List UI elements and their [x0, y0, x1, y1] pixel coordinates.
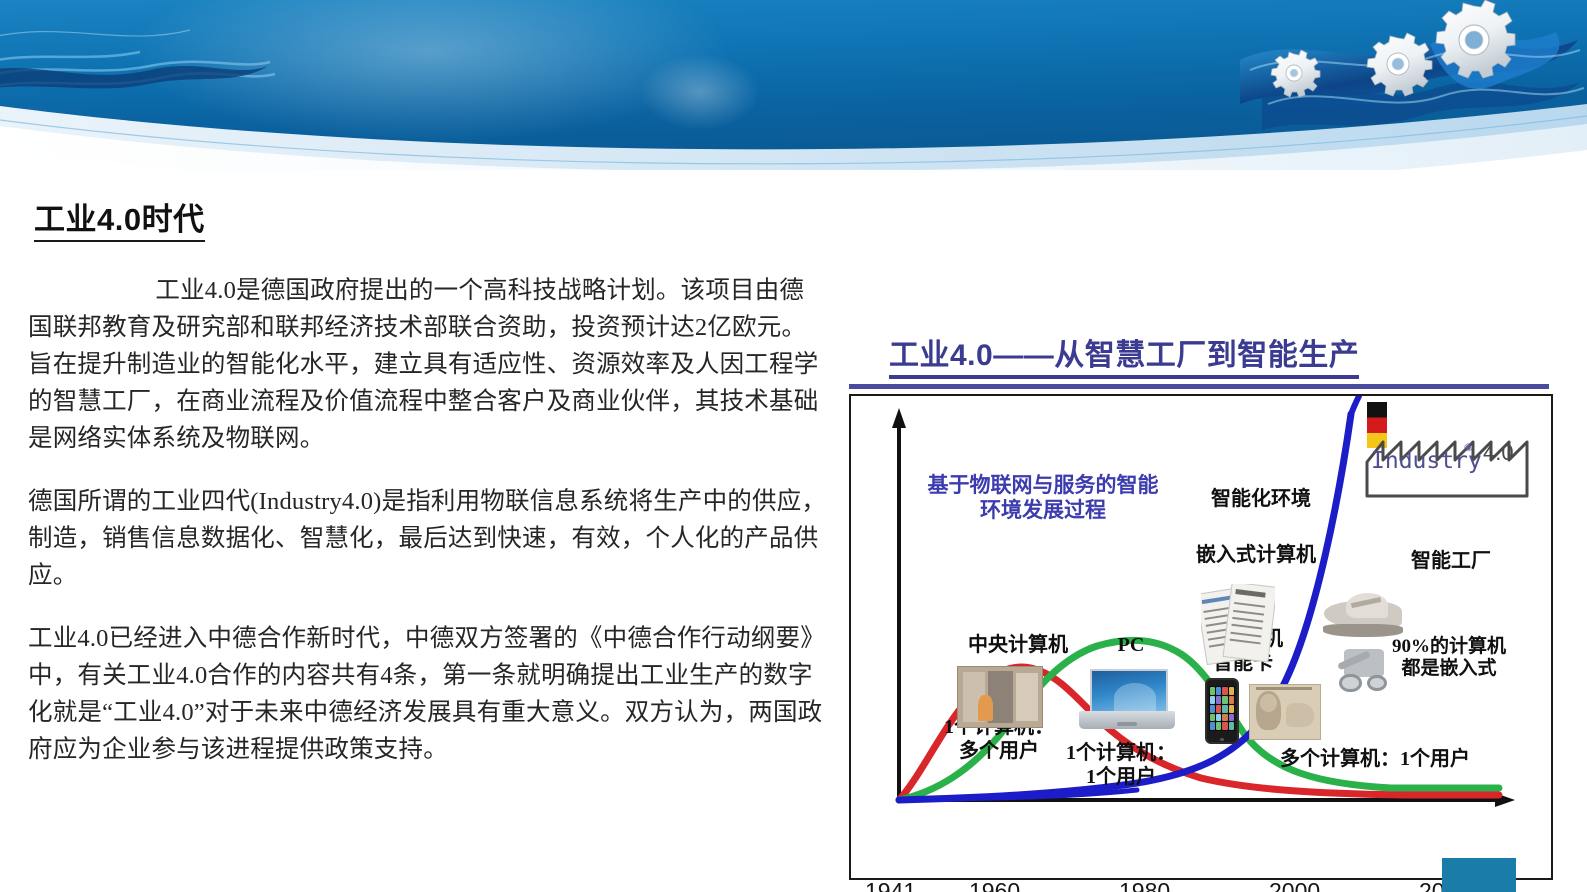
x-tick-1960: 1960 — [969, 878, 1020, 892]
laptop-photo — [1079, 668, 1175, 736]
smartphone-photo — [1205, 678, 1239, 744]
x-tick-2000: 2000 — [1269, 878, 1320, 892]
industry-logo-version: 4.0 — [1483, 440, 1514, 466]
id-card-photo — [1249, 684, 1321, 740]
one-computer-one-user-label: 1个计算机：1个用户 — [1051, 742, 1191, 789]
smart-environment-label: 智能化环境 — [1191, 488, 1331, 512]
documents-photo — [1201, 584, 1275, 666]
body-copy: 工业4.0是德国政府提出的一个高科技战略计划。该项目由德国联邦教育及研究部和联邦… — [28, 272, 828, 768]
chart-title: 工业4.0——从智慧工厂到智能生产 — [889, 330, 1359, 379]
x-tick-1980: 1980 — [1119, 878, 1170, 892]
robot-photo — [1331, 640, 1401, 698]
pc-label: PC — [1101, 634, 1161, 658]
many-computers-one-user-label: 多个计算机：1个用户 — [1255, 748, 1495, 772]
smart-factory-label: 智能工厂 — [1391, 550, 1511, 574]
sneaker-photo — [1321, 586, 1405, 644]
chart-title-rule — [849, 384, 1549, 389]
mainframe-label: 中央计算机 — [943, 634, 1093, 658]
header-banner — [0, 0, 1587, 170]
embedded-computer-label: 嵌入式计算机 — [1171, 544, 1341, 568]
corner-accent-block — [1442, 858, 1516, 892]
chart-plot-area: 基于物联网与服务的智能 环境发展过程 智能化环境 嵌入式计算机 智能工厂 中央计… — [849, 394, 1553, 880]
mainframe-photo — [957, 666, 1043, 728]
x-tick-1941: 1941 — [865, 878, 916, 892]
industry-40-logo: Industry ◉ 4.0 — [1363, 402, 1533, 502]
paragraph-1: 工业4.0是德国政府提出的一个高科技战略计划。该项目由德国联邦教育及研究部和联邦… — [28, 272, 828, 457]
slide-root: 工业4.0时代 工业4.0是德国政府提出的一个高科技战略计划。该项目由德国联邦教… — [0, 0, 1587, 892]
paragraph-3: 工业4.0已经进入中德合作新时代，中德双方签署的《中德合作行动纲要》中，有关工业… — [28, 620, 828, 768]
chart-panel: 工业4.0——从智慧工厂到智能生产 — [849, 322, 1567, 882]
page-title: 工业4.0时代 — [34, 202, 205, 242]
registered-mark-icon: ◉ — [1464, 442, 1473, 453]
paragraph-2: 德国所谓的工业四代(Industry4.0)是指利用物联信息系统将生产中的供应，… — [28, 483, 828, 594]
iot-process-label: 基于物联网与服务的智能 环境发展过程 — [903, 474, 1183, 524]
